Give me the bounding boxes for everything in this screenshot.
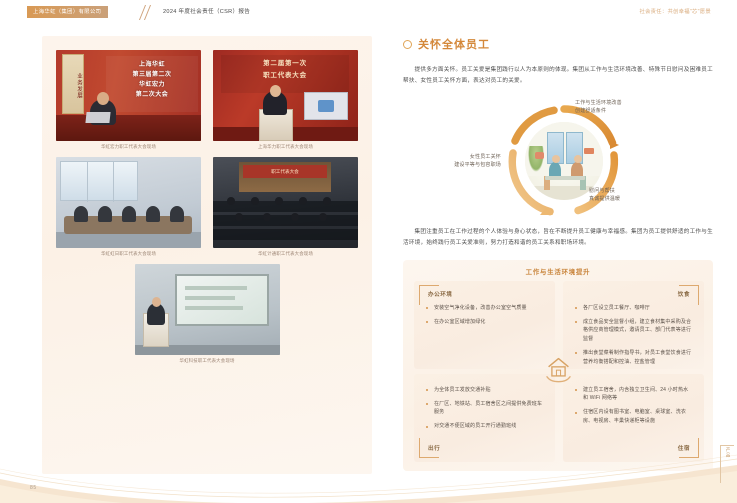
quadrant-office-environment: 办公环境 安装空气净化设备，改善办公室空气质量 在办公室区域增加绿化 [414, 281, 555, 369]
side-tab-label: 产品 [725, 447, 731, 458]
report-page: 上海华虹（集团）有限公司 2024 年度社会责任（CSR）报告 社会责任：共创幸… [0, 0, 737, 503]
header-company-tag: 上海华虹（集团）有限公司 [27, 6, 108, 18]
quadrant-list: 为全体员工发放交通补贴 在厂区、地铁站、员工宿舍区之间提供免费班车服务 对交通不… [426, 386, 544, 437]
photo-caption: 上海华力职工代表大会现场 [213, 144, 358, 150]
photo-grid: 业务发展 上海华虹第三届第二次华虹宏力第二次大会 华虹宏力职工代表大会现场 第二… [56, 50, 358, 364]
infographic-label-work-env: 工作与生活环境改善 创建舒适条件 [575, 99, 622, 115]
photo-person-head [97, 92, 109, 105]
photo-presenter-head [152, 297, 161, 307]
section-header: 关怀全体员工 [403, 36, 713, 52]
side-tab[interactable]: 产品 [703, 441, 737, 487]
list-item: 在厂区、地铁站、员工宿舍区之间提供免费班车服务 [426, 400, 544, 417]
list-item: 安装空气净化设备，改善办公室空气质量 [426, 304, 544, 313]
photo-caption: 华虹虹日职工代表大会现场 [56, 251, 201, 257]
list-item: 住宿区内设有图书室、电脑室、桌球室、洗衣房、电视房、丰巢快递柜等设施 [575, 408, 693, 425]
photo-row-2: 华虹虹日职工代表大会现场 职工代表大会 [56, 157, 358, 257]
photo-image-3 [56, 157, 201, 248]
quadrant-list: 各厂区设立员工餐厅、咖啡厅 成立食品安全监督小组，建立食材集中采购及合格供应商管… [575, 304, 693, 372]
photo-item: 职工代表大会 华虹计通职工代表大会现场 [213, 157, 358, 257]
content-column: 关怀全体员工 提供多方面关怀。员工关爱是集团践行以人为本原则的体现。集团从工作与… [403, 36, 713, 471]
list-item: 成立食品安全监督小组，建立食材集中采购及合格供应商管理模式，邀请员工、部门代表等… [575, 318, 693, 344]
photo-banner-2: 第二届第一次职工代表大会 [221, 55, 349, 93]
section-title: 关怀全体员工 [418, 36, 490, 52]
list-item: 在办公室区域增加绿化 [426, 318, 544, 327]
photo-image-4: 职工代表大会 [213, 157, 358, 248]
label-line-1: 女性员工关怀 [470, 154, 501, 160]
ring-bullet-icon [403, 40, 412, 49]
list-item: 各厂区设立员工餐厅、咖啡厅 [575, 304, 693, 313]
infographic-label-support: 慰问与帮扶 真诚提供温暖 [589, 187, 620, 203]
label-line-2: 创建舒适条件 [575, 108, 606, 114]
quadrant-list: 建立员工宿舍，内含独立卫生间、24 小时热水和 WiFi 网络等 住宿区内设有图… [575, 386, 693, 431]
header-slogan: 社会责任：共创幸福"芯"愿景 [639, 6, 711, 18]
label-line-1: 慰问与帮扶 [589, 188, 615, 194]
infographic-label-female-care: 女性员工关怀 建设平等与包容职场 [409, 153, 501, 169]
photo-image-1: 业务发展 上海华虹第三届第二次华虹宏力第二次大会 [56, 50, 201, 141]
photo-floor [56, 232, 201, 248]
photo-scroll-decor: 业务发展 [62, 54, 84, 114]
page-number: 85 [30, 485, 37, 491]
photo-table [56, 115, 201, 141]
photo-item: 第二届第一次职工代表大会 上海华力职工代表大会现场 [213, 50, 358, 150]
house-in-hand-icon [542, 352, 575, 385]
list-item: 为全体员工发放交通补贴 [426, 386, 544, 395]
photo-item: 业务发展 上海华虹第三届第二次华虹宏力第二次大会 华虹宏力职工代表大会现场 [56, 50, 201, 150]
quadrant-dining: 饮食 各厂区设立员工餐厅、咖啡厅 成立食品安全监督小组，建立食材集中采购及合格供… [563, 281, 704, 369]
label-line-2: 建设平等与包容职场 [454, 162, 501, 168]
footer-wave-decor [0, 439, 737, 503]
photo-laptop [85, 112, 110, 123]
photo-window [60, 161, 138, 201]
list-item: 对交通不便区域的员工开行通勤班线 [426, 422, 544, 431]
photo-image-2: 第二届第一次职工代表大会 [213, 50, 358, 141]
photo-item: 华虹科技职工代表大会现场 [135, 264, 280, 364]
care-infographic: 工作与生活环境改善 创建舒适条件 女性员工关怀 建设平等与包容职场 慰问与帮扶 … [403, 97, 713, 227]
quadrant-label: 办公环境 [428, 290, 452, 298]
photo-banner-4: 职工代表大会 [243, 165, 327, 178]
list-item: 建立员工宿舍，内含独立卫生间、24 小时热水和 WiFi 网络等 [575, 386, 693, 403]
photo-image-5 [135, 264, 280, 355]
quadrant-label: 饮食 [678, 290, 690, 298]
photo-row-1: 业务发展 上海华虹第三届第二次华虹宏力第二次大会 华虹宏力职工代表大会现场 第二… [56, 50, 358, 150]
photo-panel: 业务发展 上海华虹第三届第二次华虹宏力第二次大会 华虹宏力职工代表大会现场 第二… [42, 36, 372, 474]
header-report-title: 2024 年度社会责任（CSR）报告 [163, 6, 250, 18]
photo-banner-1: 上海华虹第三届第二次华虹宏力第二次大会 [106, 56, 198, 112]
photo-caption: 华虹宏力职工代表大会现场 [56, 144, 201, 150]
photo-projection-screen [175, 274, 269, 326]
card-title: 工作与生活环境提升 [403, 267, 713, 276]
photo-item: 华虹虹日职工代表大会现场 [56, 157, 201, 257]
list-item: 推出食堂菜肴制作指导书，对员工食堂饮食进行营养均衡搭配和控油、控盐管理 [575, 349, 693, 366]
side-tab-line-top [720, 445, 734, 446]
side-tab-line [720, 445, 721, 483]
photo-caption: 华虹科技职工代表大会现场 [135, 358, 280, 364]
quadrant-list: 安装空气净化设备，改善办公室空气质量 在办公室区域增加绿化 [426, 304, 544, 332]
running-header: 上海华虹（集团）有限公司 2024 年度社会责任（CSR）报告 社会责任：共创幸… [0, 0, 737, 26]
photo-speaker-head [270, 85, 281, 97]
photo-caption: 华虹计通职工代表大会现场 [213, 251, 358, 257]
header-slash-decor [139, 5, 159, 19]
section-paragraph-1: 提供多方面关怀。员工关爱是集团践行以人为本原则的体现。集团从工作与生活环境改善、… [403, 65, 713, 88]
photo-screen [304, 92, 348, 120]
photo-row-3: 华虹科技职工代表大会现场 [56, 264, 358, 364]
label-line-2: 真诚提供温暖 [589, 196, 620, 202]
section-paragraph-2: 集团注重员工在工作过程的个人体验与身心状态，旨在不断提升员工健康与幸福感。集团为… [403, 227, 713, 250]
label-line-1: 工作与生活环境改善 [575, 100, 622, 106]
